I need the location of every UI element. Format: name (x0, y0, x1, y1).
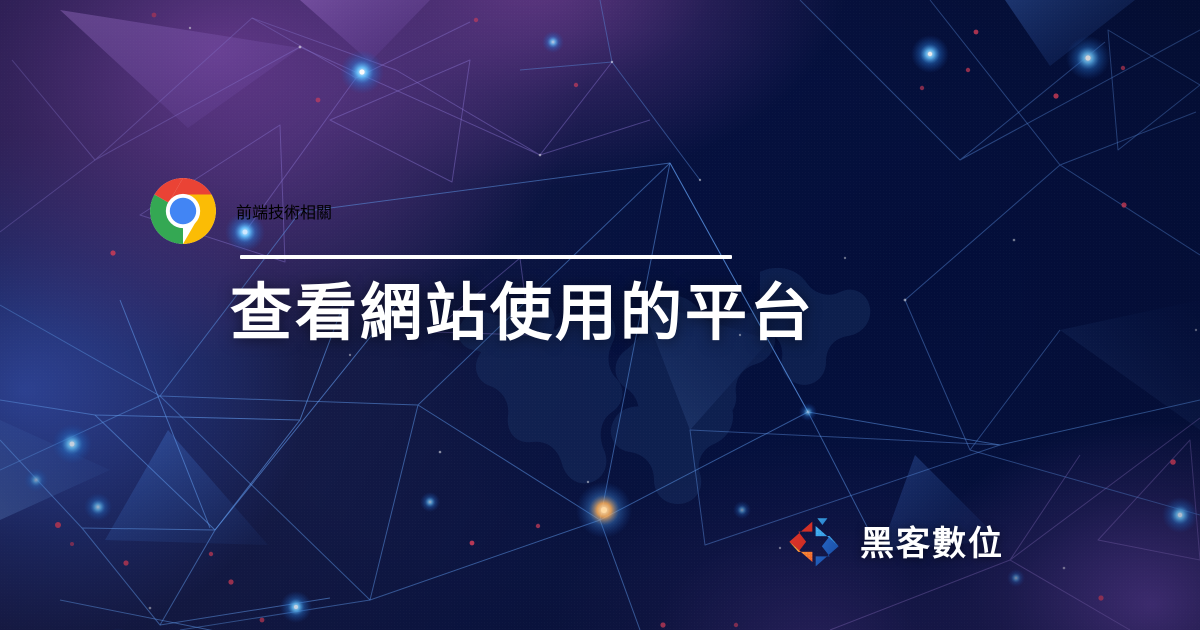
chrome-logo-icon (150, 178, 216, 244)
brand-name-label: 黑客數位 (860, 527, 1004, 561)
eyebrow-label: 前端技術相關 (236, 199, 332, 223)
eyebrow-row: 前端技術相關 (150, 178, 1050, 244)
brand-lockup: 黑客數位 (786, 516, 1004, 572)
headline-block: 前端技術相關 查看網站使用的平台 (150, 178, 1050, 346)
page-title: 查看網站使用的平台 (230, 281, 1050, 346)
banner-canvas: 前端技術相關 查看網站使用的平台 (0, 0, 1200, 630)
hacker-digital-logo-icon (786, 516, 842, 572)
title-divider (240, 255, 732, 259)
